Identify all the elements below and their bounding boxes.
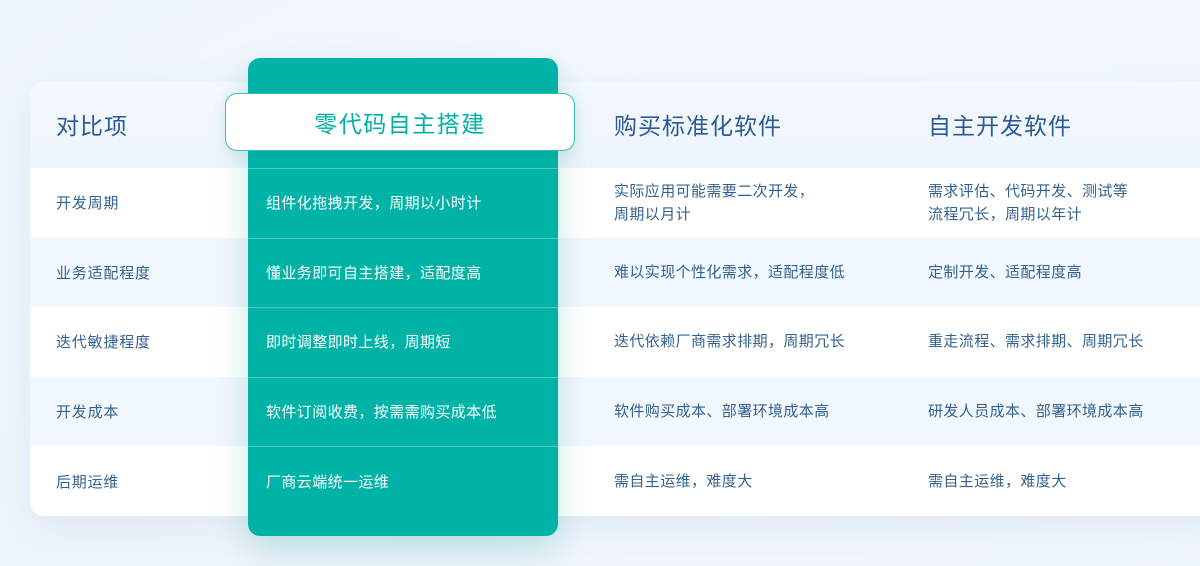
cell-custom: 需求评估、代码开发、测试等 流程冗长，周期以年计 <box>928 180 1200 227</box>
column-header-standard: 购买标准化软件 <box>614 112 914 141</box>
table-body: 开发周期 实际应用可能需要二次开发， 周期以月计 需求评估、代码开发、测试等 流… <box>30 168 1200 516</box>
cell-zerocode: 即时调整即时上线，周期短 <box>248 307 558 377</box>
cell-zerocode: 懂业务即可自主搭建，适配度高 <box>248 238 558 308</box>
table-header-row: 对比项 购买标准化软件 自主开发软件 <box>30 82 1200 168</box>
highlighted-column-cells: 组件化拖拽开发，周期以小时计 懂业务即可自主搭建，适配度高 即时调整即时上线，周… <box>248 168 558 516</box>
cell-standard-line2: 周期以月计 <box>614 203 914 226</box>
cell-standard-line1: 实际应用可能需要二次开发， <box>614 180 914 203</box>
row-label: 业务适配程度 <box>56 262 246 283</box>
comparison-page: 对比项 购买标准化软件 自主开发软件 开发周期 实际应用可能需要二次开发， 周期… <box>0 0 1200 566</box>
row-label: 开发成本 <box>56 401 246 422</box>
row-label: 迭代敏捷程度 <box>56 331 246 352</box>
cell-custom-line2: 流程冗长，周期以年计 <box>928 203 1200 226</box>
table-row: 迭代敏捷程度 迭代依赖厂商需求排期，周期冗长 重走流程、需求排期、周期冗长 <box>30 307 1200 377</box>
column-header-zerocode-badge[interactable]: 零代码自主搭建 <box>225 93 575 151</box>
table-row: 后期运维 需自主运维，难度大 需自主运维，难度大 <box>30 446 1200 516</box>
cell-standard: 迭代依赖厂商需求排期，周期冗长 <box>614 330 914 353</box>
cell-standard: 实际应用可能需要二次开发， 周期以月计 <box>614 180 914 227</box>
cell-standard: 难以实现个性化需求，适配程度低 <box>614 261 914 284</box>
cell-standard: 软件购买成本、部署环境成本高 <box>614 400 914 423</box>
cell-custom: 研发人员成本、部署环境成本高 <box>928 400 1200 423</box>
cell-custom: 需自主运维，难度大 <box>928 470 1200 493</box>
table-row: 业务适配程度 难以实现个性化需求，适配程度低 定制开发、适配程度高 <box>30 238 1200 308</box>
row-label: 后期运维 <box>56 471 246 492</box>
cell-custom-line1: 需求评估、代码开发、测试等 <box>928 180 1200 203</box>
column-header-custom: 自主开发软件 <box>928 112 1200 141</box>
cell-zerocode: 组件化拖拽开发，周期以小时计 <box>248 168 558 238</box>
row-label: 开发周期 <box>56 192 246 213</box>
table-row: 开发成本 软件购买成本、部署环境成本高 研发人员成本、部署环境成本高 <box>30 377 1200 447</box>
cell-custom: 定制开发、适配程度高 <box>928 261 1200 284</box>
cell-standard: 需自主运维，难度大 <box>614 470 914 493</box>
cell-zerocode: 软件订阅收费，按需需购买成本低 <box>248 377 558 447</box>
table-row: 开发周期 实际应用可能需要二次开发， 周期以月计 需求评估、代码开发、测试等 流… <box>30 168 1200 238</box>
comparison-table-card: 对比项 购买标准化软件 自主开发软件 开发周期 实际应用可能需要二次开发， 周期… <box>30 82 1200 516</box>
column-header-zerocode-label: 零代码自主搭建 <box>314 105 486 139</box>
column-header-criteria: 对比项 <box>56 112 246 141</box>
cell-zerocode: 厂商云端统一运维 <box>248 446 558 516</box>
cell-custom: 重走流程、需求排期、周期冗长 <box>928 330 1200 353</box>
